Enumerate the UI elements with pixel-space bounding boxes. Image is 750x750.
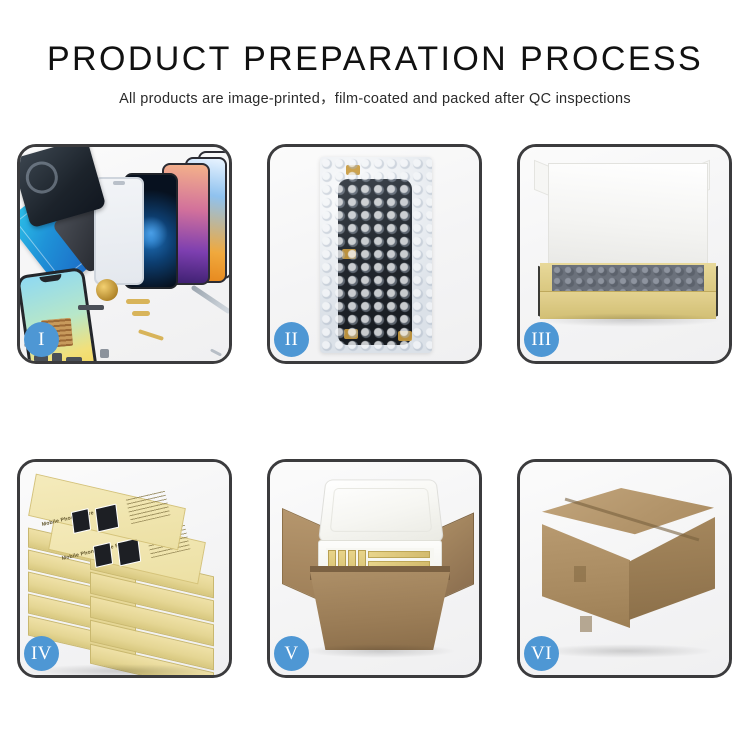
page-title: PRODUCT PREPARATION PROCESS	[0, 38, 750, 80]
tweezers-icon	[191, 285, 229, 315]
process-step-grid: I II	[17, 144, 733, 678]
sealed-carton	[534, 488, 722, 648]
white-foam-lid	[548, 163, 708, 269]
step-badge-5: V	[274, 636, 309, 671]
flex-cable-icon	[138, 329, 164, 341]
bubble-texture	[320, 157, 432, 353]
process-step-5: V	[267, 459, 482, 678]
yellow-box-item	[368, 551, 430, 558]
step-badge-4: IV	[24, 636, 59, 671]
process-step-3: III	[517, 144, 732, 364]
box-window-graphic	[93, 542, 113, 568]
ground-shadow	[304, 644, 456, 658]
carton-body	[310, 572, 450, 650]
process-step-6: VI	[517, 459, 732, 678]
ground-shadow	[536, 313, 722, 327]
header: PRODUCT PREPARATION PROCESS All products…	[0, 0, 750, 108]
product-preparation-infographic: PRODUCT PREPARATION PROCESS All products…	[0, 0, 750, 750]
step-badge-6: VI	[524, 636, 559, 671]
small-chip-icon	[78, 305, 104, 310]
process-step-4: Mobile Phone Spare Parts Mobile Phone Sp…	[17, 459, 232, 678]
bubble-wrap-bag	[320, 157, 432, 353]
process-step-2: II	[267, 144, 482, 364]
styrofoam-lid	[318, 479, 444, 542]
flex-cable-icon	[126, 299, 150, 304]
box-window-graphic	[117, 538, 141, 567]
flex-cable-icon	[132, 311, 150, 316]
ground-shadow	[538, 644, 714, 658]
screwdriver-icon	[210, 348, 222, 356]
page-subtitle: All products are image-printed，film-coat…	[0, 87, 750, 108]
carton-tape-patch	[574, 566, 586, 582]
step-badge-2: II	[274, 322, 309, 357]
step-badge-3: III	[524, 322, 559, 357]
box-window-graphic	[71, 508, 91, 534]
process-step-1: I	[17, 144, 232, 364]
box-stack: Mobile Phone Spare Parts Mobile Phone Sp…	[28, 484, 228, 674]
box-window-graphic	[95, 504, 119, 533]
carton-tape-patch	[580, 616, 592, 632]
carton-left-face	[542, 522, 630, 628]
small-chip-icon	[52, 353, 62, 361]
small-chip-icon	[100, 349, 109, 358]
step-badge-1: I	[24, 322, 59, 357]
speaker-module-icon	[96, 279, 118, 301]
small-chip-icon	[66, 357, 82, 361]
